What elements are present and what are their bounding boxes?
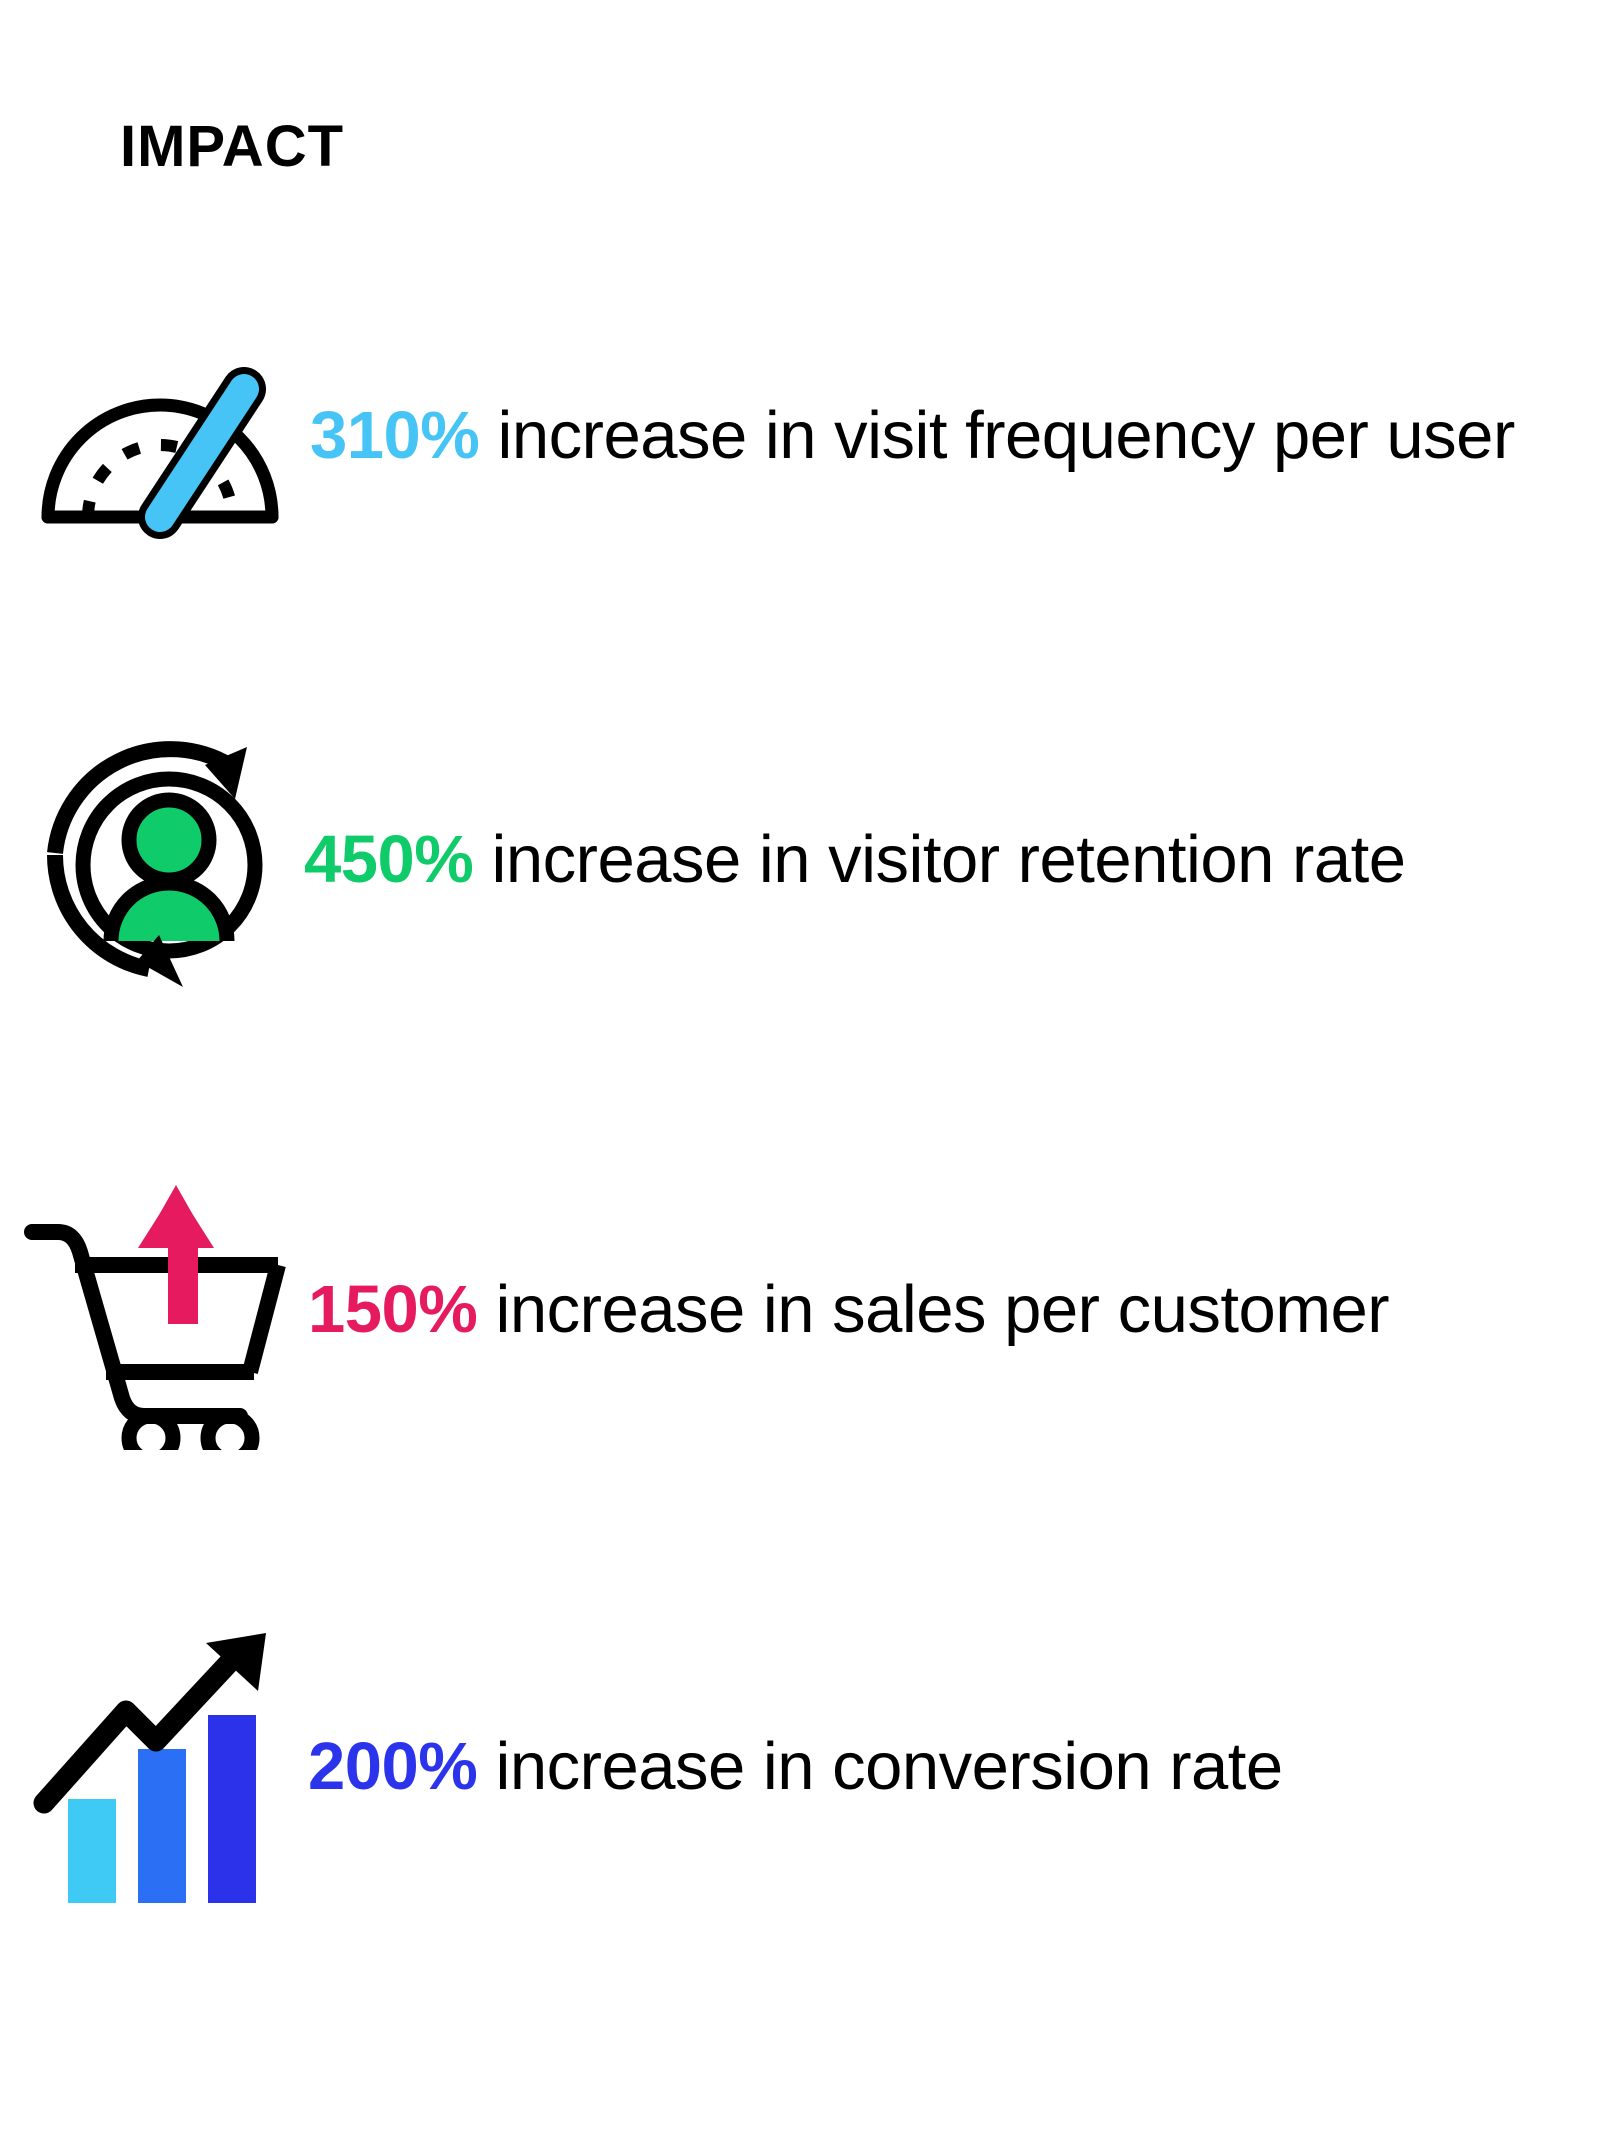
shopping-cart-up-arrow-icon bbox=[0, 1170, 308, 1450]
bar-3 bbox=[208, 1715, 256, 1903]
stat-value: 150% bbox=[308, 1272, 477, 1347]
bar-2 bbox=[138, 1749, 186, 1903]
stat-description: increase in visit frequency per user bbox=[479, 398, 1514, 473]
growth-bar-chart-icon bbox=[0, 1633, 308, 1903]
impact-card: IMPACT 310% increase in visit frequency … bbox=[0, 0, 1600, 2148]
speedometer-gauge-icon bbox=[0, 321, 310, 551]
stat-description: increase in visitor retention rate bbox=[473, 822, 1405, 897]
page-title: IMPACT bbox=[120, 118, 344, 176]
stat-row: 310% increase in visit frequency per use… bbox=[0, 286, 1600, 586]
stat-text: 310% increase in visit frequency per use… bbox=[310, 392, 1600, 480]
bar-1 bbox=[68, 1799, 116, 1903]
stat-text: 200% increase in conversion rate bbox=[308, 1723, 1600, 1811]
stat-text: 150% increase in sales per customer bbox=[308, 1266, 1600, 1354]
stat-description: increase in conversion rate bbox=[477, 1729, 1282, 1804]
stat-row: 200% increase in conversion rate bbox=[0, 1595, 1600, 1940]
stat-value: 200% bbox=[308, 1729, 477, 1804]
stat-row: 450% increase in visitor retention rate bbox=[0, 700, 1600, 1020]
stat-description: increase in sales per customer bbox=[477, 1272, 1389, 1347]
user-retention-refresh-icon bbox=[0, 725, 304, 995]
stat-row: 150% increase in sales per customer bbox=[0, 1145, 1600, 1475]
stat-text: 450% increase in visitor retention rate bbox=[304, 816, 1600, 904]
stat-value: 310% bbox=[310, 398, 479, 473]
stat-value: 450% bbox=[304, 822, 473, 897]
